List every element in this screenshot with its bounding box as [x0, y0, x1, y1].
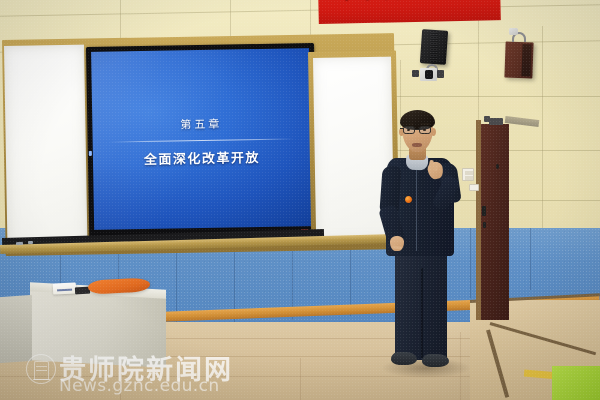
presenter-shoe	[422, 354, 449, 367]
jacket-zipper	[416, 165, 417, 251]
presenter-eyebrow	[420, 123, 430, 125]
tissue-box[interactable]	[53, 282, 77, 294]
presenter-shoe	[391, 352, 417, 365]
speaker-face	[521, 44, 531, 76]
slide-divider	[109, 138, 295, 142]
door-closer	[489, 118, 503, 125]
presenter-ear	[431, 128, 436, 136]
whiteboard-panel-left[interactable]	[4, 45, 88, 248]
lectern-side-panel	[0, 295, 32, 363]
door-handle[interactable]	[482, 206, 486, 216]
speaker-mount-plate	[509, 28, 518, 35]
eyeglasses-bridge	[415, 129, 419, 130]
red-banner: 中国梦宣讲	[318, 0, 501, 24]
banner-text: 中国梦宣讲	[318, 0, 500, 6]
outlet-plate[interactable]	[469, 184, 479, 191]
presenter-eyebrow	[404, 123, 414, 125]
trouser-seam	[421, 268, 423, 358]
slide-chapter: 第五章	[92, 114, 310, 134]
rail-control-button[interactable]	[16, 242, 23, 245]
door-peephole-icon	[496, 164, 499, 169]
speaker-grill	[422, 31, 446, 62]
photograph-canvas: 中国梦宣讲 第五章 全面深化改革开放	[0, 0, 600, 400]
door-lock[interactable]	[483, 222, 486, 228]
rail-control-button[interactable]	[28, 241, 33, 244]
bezel-indicator	[88, 151, 91, 156]
box-label	[57, 289, 72, 292]
wall-seam	[542, 26, 543, 234]
camera-side-module	[437, 70, 444, 78]
door-closer-bracket	[484, 116, 490, 122]
slide-title: 全面深化改革开放	[93, 146, 311, 169]
display-bezel: 第五章 全面深化改革开放	[86, 43, 317, 241]
wall-speaker-wood	[504, 42, 533, 79]
light-switch-plate[interactable]	[462, 168, 474, 181]
interactive-display-screen[interactable]: 第五章 全面深化改革开放	[91, 48, 312, 230]
camera-side-module	[412, 70, 419, 77]
panel-seam	[470, 228, 471, 298]
lapel-badge	[405, 196, 412, 203]
panel-seam	[530, 228, 531, 290]
wall-speaker-black	[420, 29, 448, 65]
green-object	[552, 366, 600, 400]
eyeglasses-temple	[400, 128, 404, 129]
presenter-mouth	[412, 143, 422, 147]
camera-lens-icon	[425, 70, 433, 79]
